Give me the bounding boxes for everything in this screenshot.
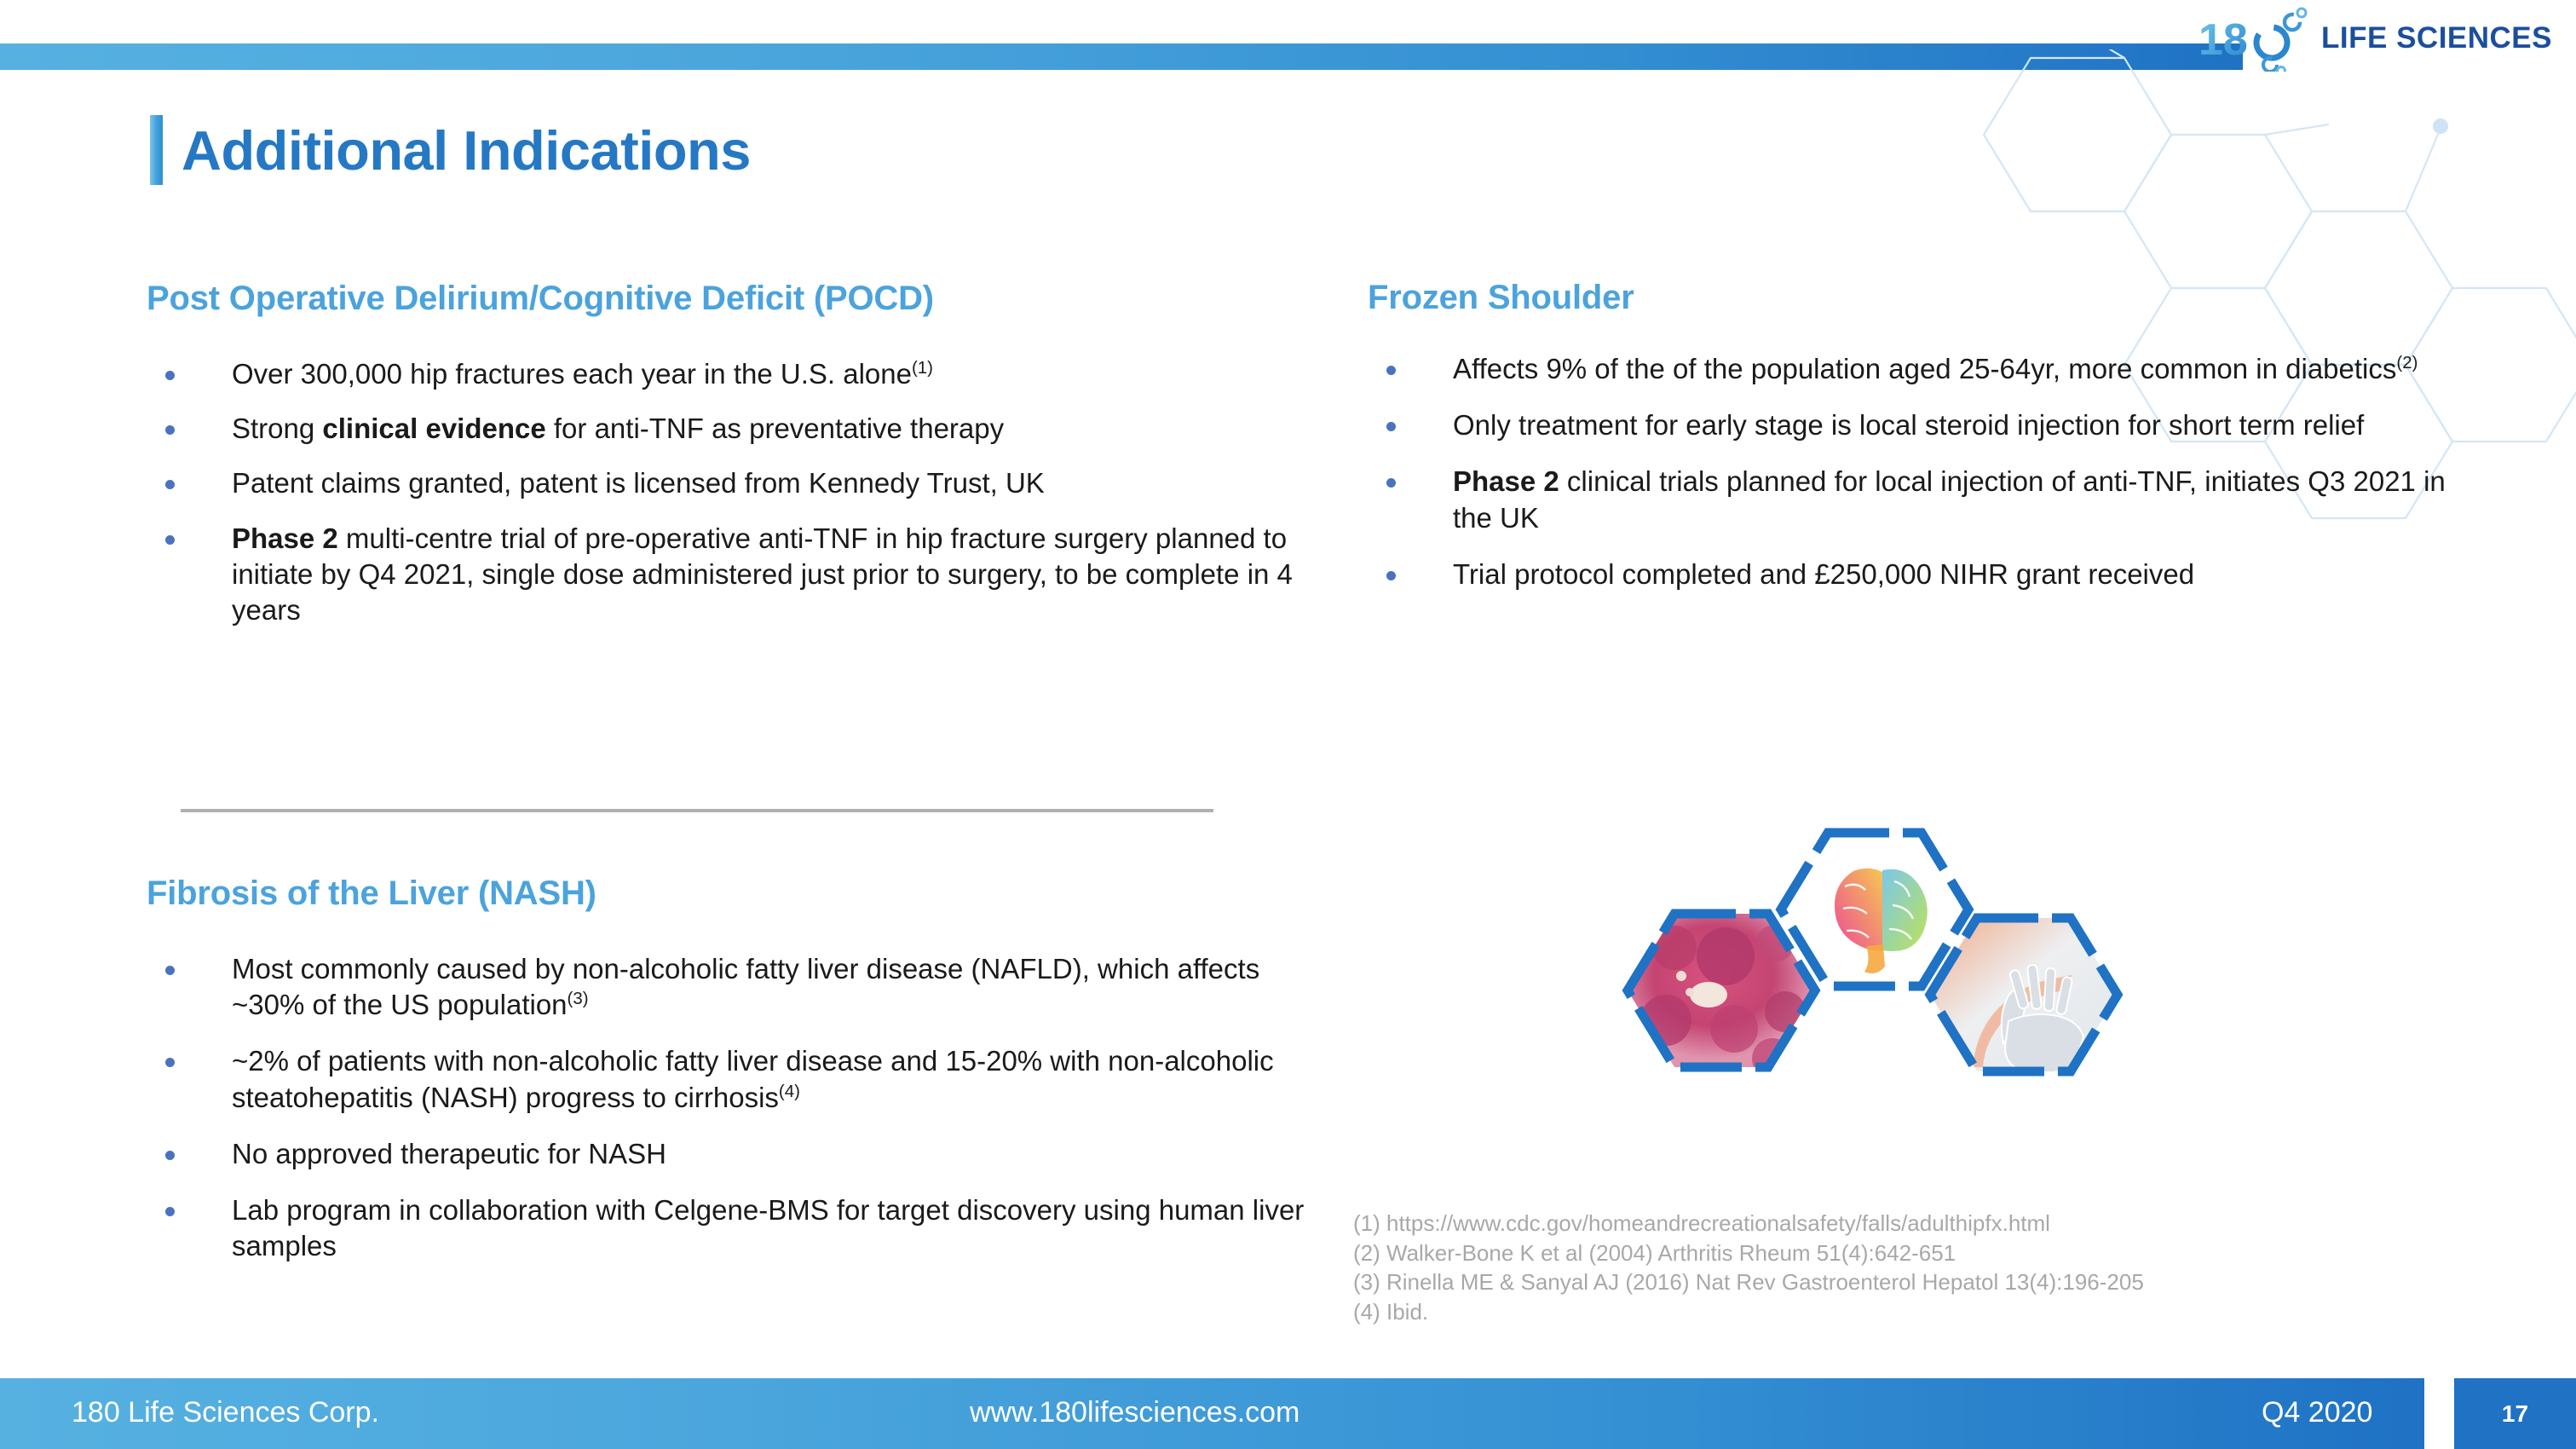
title-text: Additional Indications [182,123,751,178]
bullet-list-pocd: Over 300,000 hip fractures each year in … [147,356,1357,647]
list-item: Lab program in collaboration with Celgen… [147,1192,1340,1264]
bullet-text: Over 300,000 hip fractures each year in … [232,358,912,390]
logo-mark-icon: 18 [2197,5,2309,72]
footnote-ref: (4) [779,1082,800,1101]
footnote-line: (1) https://www.cdc.gov/homeandrecreatio… [1353,1209,2144,1238]
section-heading-nash: Fibrosis of the Liver (NASH) [147,875,596,913]
bullet-text: Affects 9% of the of the population aged… [1453,353,2396,384]
bullet-text: Most commonly caused by non-alcoholic fa… [232,953,1259,1020]
list-item: Over 300,000 hip fractures each year in … [147,356,1357,392]
emphasis-text: Phase 2 [1453,465,1559,497]
page-number: 17 [2502,1400,2528,1428]
list-item: Phase 2 clinical trials planned for loca… [1368,464,2475,535]
slide-canvas: 18 LIFE SCIENCES Additional Indications … [0,0,2576,1449]
list-item: No approved therapeutic for NASH [147,1136,1340,1172]
section-heading-frozen-shoulder: Frozen Shoulder [1368,279,1634,317]
bullet-text: clinical trials planned for local inject… [1453,465,2446,533]
bullet-text: Patent claims granted, patent is license… [232,467,1045,499]
watermark-node-dot [2433,118,2448,134]
title-accent-bar [150,115,163,185]
footnote-line: (2) Walker-Bone K et al (2004) Arthritis… [1353,1238,2144,1268]
list-item: Only treatment for early stage is local … [1368,407,2475,443]
svg-text:18: 18 [2199,15,2248,65]
bullet-text: Lab program in collaboration with Celgen… [232,1194,1304,1261]
list-item: Patent claims granted, patent is license… [147,465,1357,501]
list-item: Affects 9% of the of the population aged… [1368,351,2475,387]
list-item: Strong clinical evidence for anti-TNF as… [147,411,1357,447]
footnote-list: (1) https://www.cdc.gov/homeandrecreatio… [1353,1209,2144,1326]
emphasis-text: Phase 2 [232,522,338,554]
bullet-text: No approved therapeutic for NASH [232,1138,666,1169]
bullet-list-frozen-shoulder: Affects 9% of the of the population aged… [1368,351,2475,613]
bullet-text: for anti-TNF as preventative therapy [546,413,1004,444]
list-item: Trial protocol completed and £250,000 NI… [1368,557,2475,592]
list-item: Most commonly caused by non-alcoholic fa… [147,951,1340,1023]
list-item: ~2% of patients with non-alcoholic fatty… [147,1043,1340,1115]
bullet-text: Trial protocol completed and £250,000 NI… [1453,558,2194,590]
bullet-text: multi-centre trial of pre-operative anti… [232,522,1293,626]
footer-quarter-label: Q4 2020 [2262,1396,2372,1429]
top-accent-bar [0,43,2243,70]
bullet-text: ~2% of patients with non-alcoholic fatty… [232,1045,1274,1112]
footer-company-name: 180 Life Sciences Corp. [72,1396,379,1429]
footer-website-url[interactable]: www.180lifesciences.com [970,1396,1300,1429]
list-item: Phase 2 multi-centre trial of pre-operat… [147,521,1357,629]
section-divider [181,809,1213,812]
bullet-text: Only treatment for early stage is local … [1453,409,2364,441]
footnote-ref: (2) [2396,353,2418,372]
bullet-list-nash: Most commonly caused by non-alcoholic fa… [147,951,1340,1285]
hexagon-image-cluster [1572,820,2169,1152]
company-logo: 18 LIFE SCIENCES [2197,5,2552,72]
footnote-ref: (1) [912,358,933,378]
footnote-line: (4) Ibid. [1353,1297,2144,1327]
footnote-line: (3) Rinella ME & Sanyal AJ (2016) Nat Re… [1353,1267,2144,1297]
emphasis-text: clinical evidence [322,413,545,444]
footnote-ref: (3) [568,989,589,1008]
section-heading-pocd: Post Operative Delirium/Cognitive Defici… [147,280,934,318]
bullet-text: Strong [232,413,322,444]
logo-wordmark: LIFE SCIENCES [2321,21,2552,55]
hand-xray-hexagon [1926,914,2122,1076]
page-title: Additional Indications [150,115,751,185]
page-number-box: 17 [2454,1378,2576,1449]
